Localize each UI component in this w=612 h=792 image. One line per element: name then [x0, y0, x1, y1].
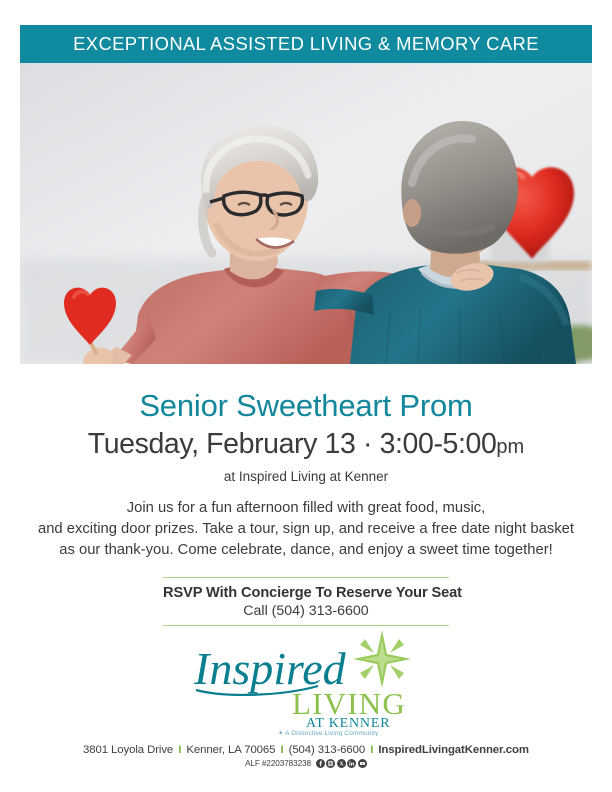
event-date-time: Tuesday, February 13 · 3:00-5:00pm [0, 430, 612, 460]
header-banner: EXCEPTIONAL ASSISTED LIVING & MEMORY CAR… [20, 25, 592, 63]
footer-license-row: ALF #2203783238 [0, 759, 612, 768]
footer: 3801 Loyola Drive I Kenner, LA 70065 I (… [0, 744, 612, 768]
footer-phone[interactable]: (504) 313-6600 [289, 744, 366, 756]
brand-logo: Inspired LIVING AT KENNER ✦ A Distinctiv… [0, 628, 612, 738]
footer-license-number: ALF #2203783238 [245, 759, 311, 768]
footer-contact-line: 3801 Loyola Drive I Kenner, LA 70065 I (… [0, 744, 612, 756]
event-date-text: Tuesday, February 13 [88, 428, 356, 460]
event-description-line-1: Join us for a fun afternoon filled with … [26, 498, 586, 519]
footer-separator-3: I [368, 744, 375, 756]
header-banner-text: EXCEPTIONAL ASSISTED LIVING & MEMORY CAR… [73, 33, 539, 55]
footer-separator-1: I [176, 744, 183, 756]
event-time-text: 3:00-5:00 [380, 428, 497, 460]
event-title: Senior Sweetheart Prom [0, 390, 612, 423]
instagram-icon[interactable] [326, 759, 335, 768]
footer-city-state-zip: Kenner, LA 70065 [186, 744, 275, 756]
footer-website[interactable]: InspiredLivingatKenner.com [378, 744, 529, 756]
brand-logo-artwork: Inspired LIVING AT KENNER ✦ A Distinctiv… [186, 628, 426, 736]
event-description: Join us for a fun afternoon filled with … [26, 498, 586, 561]
social-icon-group [316, 759, 367, 768]
facebook-icon[interactable] [316, 759, 325, 768]
event-date-separator: · [363, 428, 372, 460]
event-venue: at Inspired Living at Kenner [0, 469, 612, 484]
event-description-line-2: and exciting door prizes. Take a tour, s… [26, 519, 586, 540]
youtube-icon[interactable] [358, 759, 367, 768]
event-time-ampm: pm [496, 436, 524, 458]
rsvp-block: RSVP With Concierge To Reserve Your Seat… [163, 577, 449, 626]
event-content: Senior Sweetheart Prom Tuesday, February… [0, 364, 612, 626]
event-description-line-3: as our thank-you. Come celebrate, dance,… [26, 540, 586, 561]
footer-separator-2: I [278, 744, 285, 756]
linkedin-icon[interactable] [347, 759, 356, 768]
logo-location-word: AT KENNER [306, 716, 390, 731]
flyer-page: EXCEPTIONAL ASSISTED LIVING & MEMORY CAR… [0, 0, 612, 792]
hero-photo-illustration [20, 63, 592, 364]
twitter-icon[interactable] [337, 759, 346, 768]
hero-photo [20, 63, 592, 364]
rsvp-headline: RSVP With Concierge To Reserve Your Seat [163, 585, 449, 601]
starburst-icon [353, 630, 411, 688]
logo-tagline: ✦ A Distinctive Living Community [278, 730, 379, 736]
rsvp-phone[interactable]: Call (504) 313-6600 [163, 603, 449, 619]
footer-address: 3801 Loyola Drive [83, 744, 173, 756]
